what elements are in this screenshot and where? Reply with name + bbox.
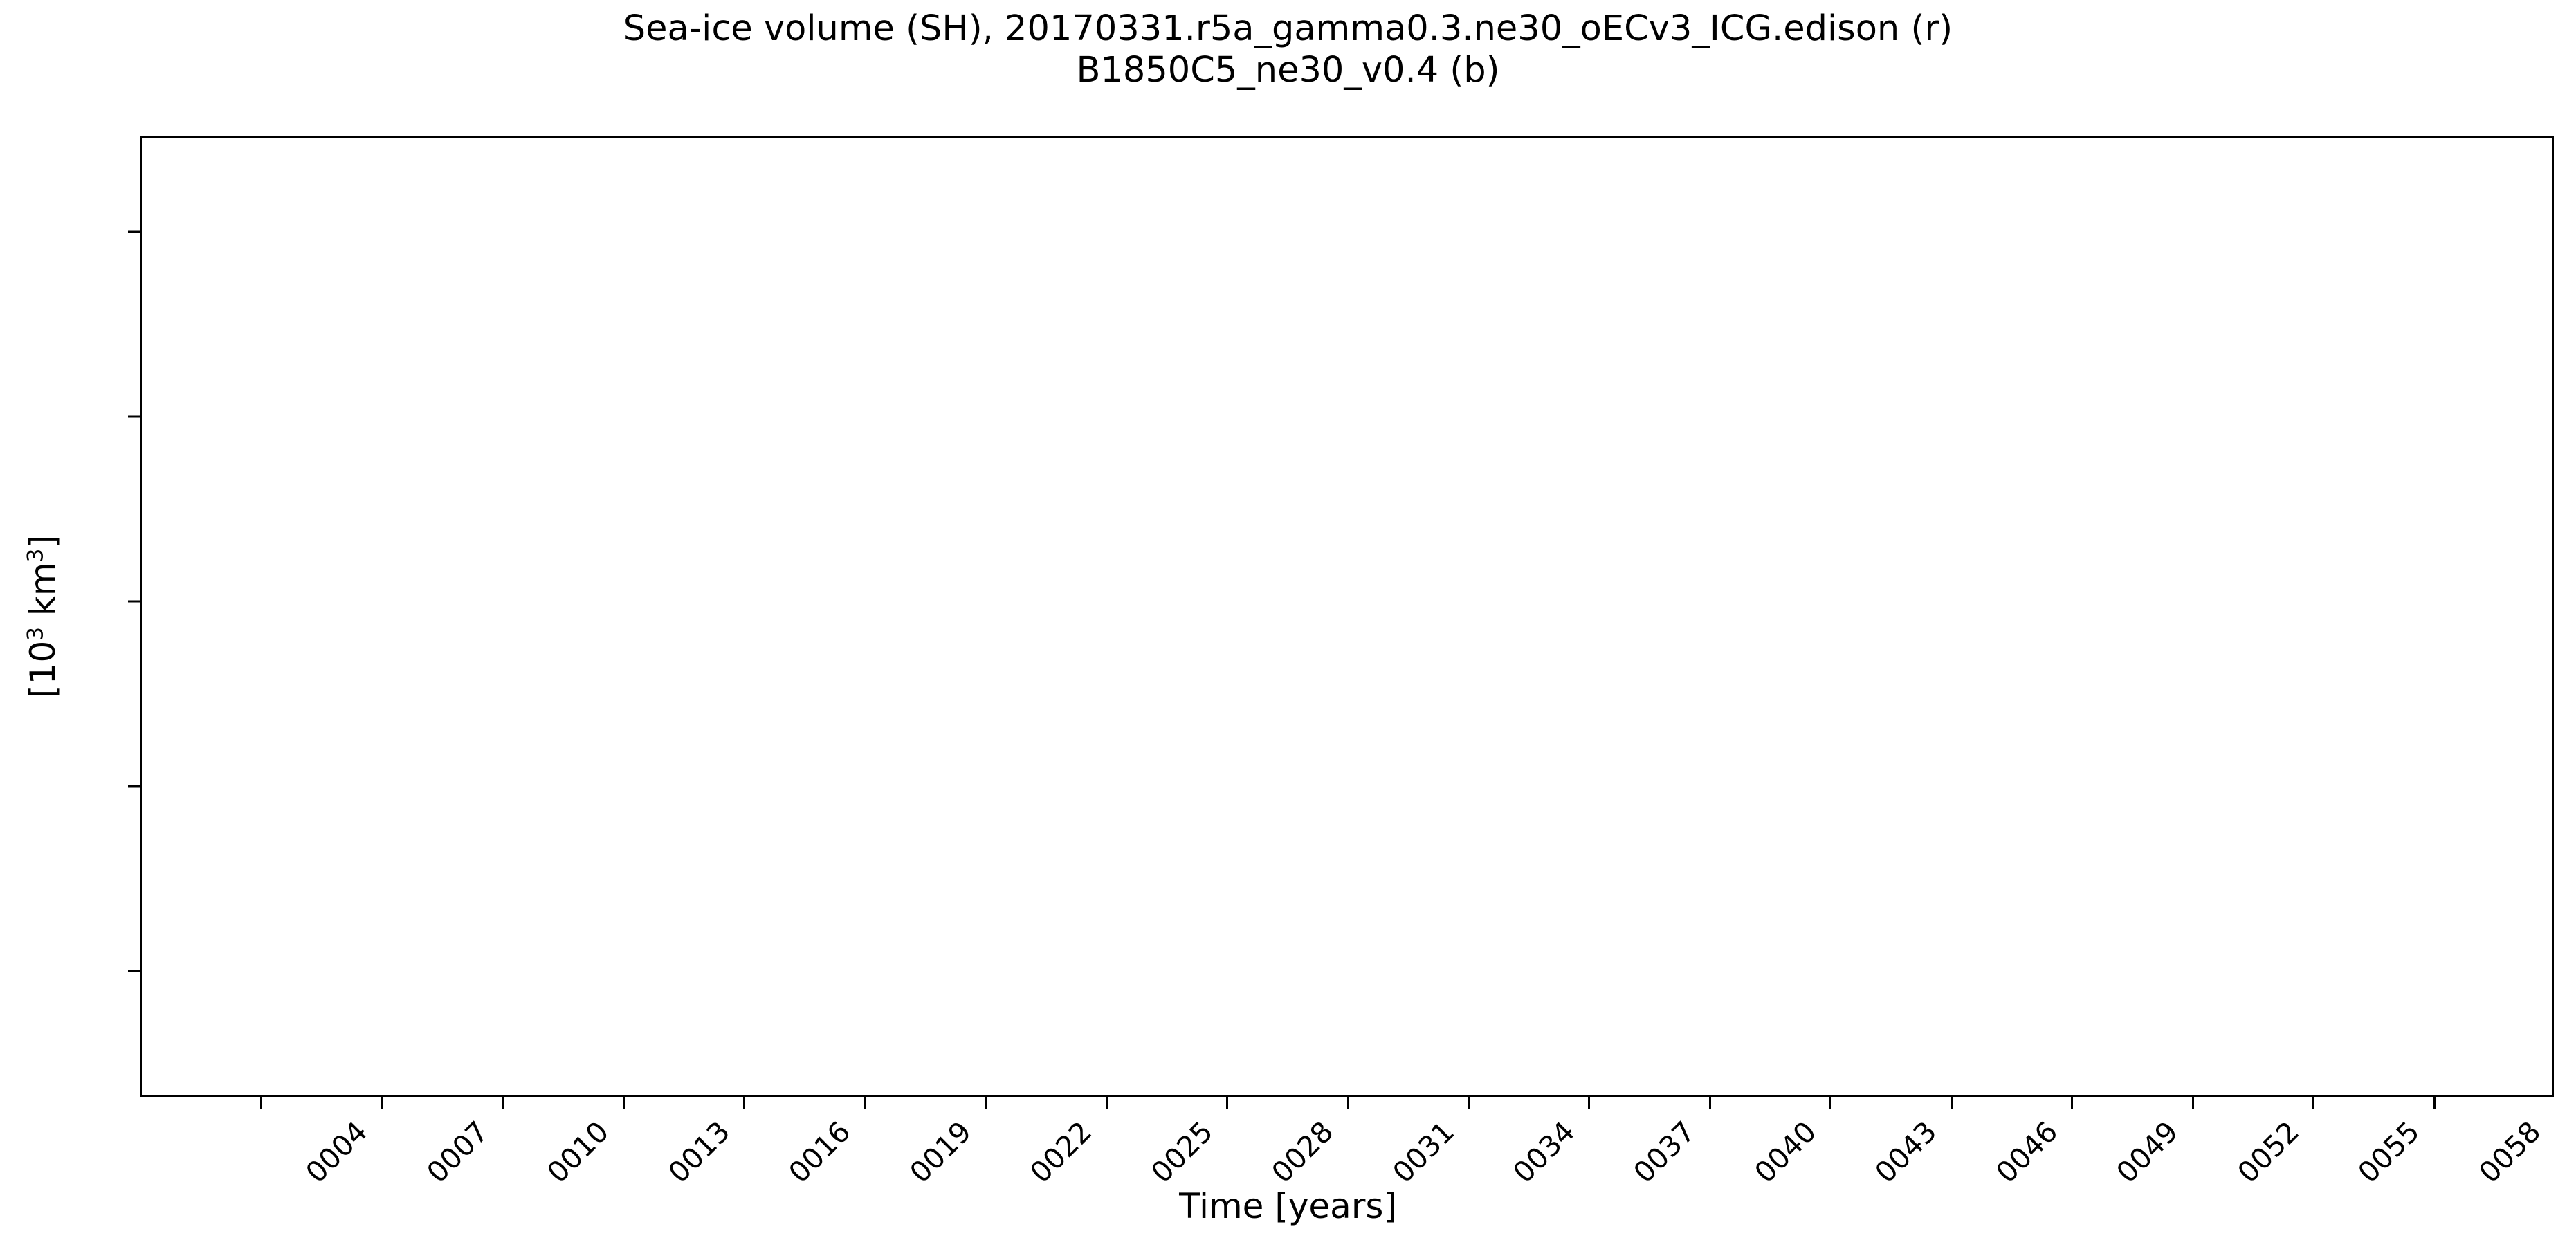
y-tick-mark <box>128 785 140 788</box>
x-tick-mark <box>381 1097 383 1109</box>
y-axis-label: [103 km3] <box>23 535 63 698</box>
x-tick-mark <box>2312 1097 2314 1109</box>
x-tick-label: 0004 <box>300 1115 374 1190</box>
x-tick-mark <box>1951 1097 1953 1109</box>
plot-frame-border <box>140 136 2554 1097</box>
figure-canvas: Sea-ice volume (SH), 20170331.r5a_gamma0… <box>0 0 2576 1256</box>
y-axis-label-unit: km <box>23 562 63 627</box>
x-tick-label: 0028 <box>1266 1115 1340 1190</box>
x-tick-mark <box>260 1097 262 1109</box>
x-tick-label: 0052 <box>2231 1115 2305 1190</box>
chart-title-line-2: B1850C5_ne30_v0.4 (b) <box>0 50 2576 91</box>
x-tick-label: 0007 <box>420 1115 495 1190</box>
x-tick-mark <box>2433 1097 2436 1109</box>
x-tick-label: 0022 <box>1024 1115 1099 1190</box>
y-axis-label-unit-exponent: 3 <box>23 548 48 562</box>
x-tick-mark <box>864 1097 866 1109</box>
plot-area <box>140 136 2554 1097</box>
chart-title-line-1: Sea-ice volume (SH), 20170331.r5a_gamma0… <box>0 8 2576 50</box>
y-tick-mark <box>128 230 140 233</box>
x-tick-mark <box>502 1097 504 1109</box>
y-tick-mark <box>128 416 140 418</box>
x-tick-label: 0037 <box>1627 1115 1702 1190</box>
y-tick-mark <box>128 970 140 972</box>
x-tick-label: 0019 <box>903 1115 978 1190</box>
x-tick-label: 0025 <box>1144 1115 1219 1190</box>
x-tick-label: 0013 <box>661 1115 736 1190</box>
y-tick-mark <box>128 601 140 603</box>
x-tick-mark <box>1709 1097 1711 1109</box>
x-tick-mark <box>1829 1097 1831 1109</box>
x-tick-label: 0043 <box>1869 1115 1944 1190</box>
x-tick-mark <box>623 1097 625 1109</box>
x-tick-label: 0034 <box>1506 1115 1581 1190</box>
x-tick-mark <box>985 1097 987 1109</box>
y-axis-label-base: [10 <box>23 640 63 698</box>
x-tick-mark <box>2192 1097 2194 1109</box>
chart-title: Sea-ice volume (SH), 20170331.r5a_gamma0… <box>0 8 2576 91</box>
x-tick-label: 0049 <box>2110 1115 2185 1190</box>
x-tick-mark <box>1468 1097 1470 1109</box>
x-tick-mark <box>1588 1097 1590 1109</box>
x-tick-mark <box>1226 1097 1228 1109</box>
y-axis-label-exponent: 3 <box>23 626 48 640</box>
x-tick-mark <box>1106 1097 1108 1109</box>
x-tick-label: 0016 <box>783 1115 857 1190</box>
x-tick-mark <box>1347 1097 1349 1109</box>
x-tick-mark <box>743 1097 745 1109</box>
x-axis-label: Time [years] <box>0 1186 2576 1226</box>
x-tick-label: 0046 <box>1989 1115 2064 1190</box>
x-tick-label: 0040 <box>1748 1115 1823 1190</box>
x-tick-mark <box>2071 1097 2073 1109</box>
x-tick-label: 0010 <box>541 1115 616 1190</box>
y-axis-label-close: ] <box>23 535 63 549</box>
x-tick-label: 0031 <box>1386 1115 1461 1190</box>
x-tick-label: 0058 <box>2472 1115 2547 1190</box>
x-tick-label: 0055 <box>2352 1115 2427 1190</box>
